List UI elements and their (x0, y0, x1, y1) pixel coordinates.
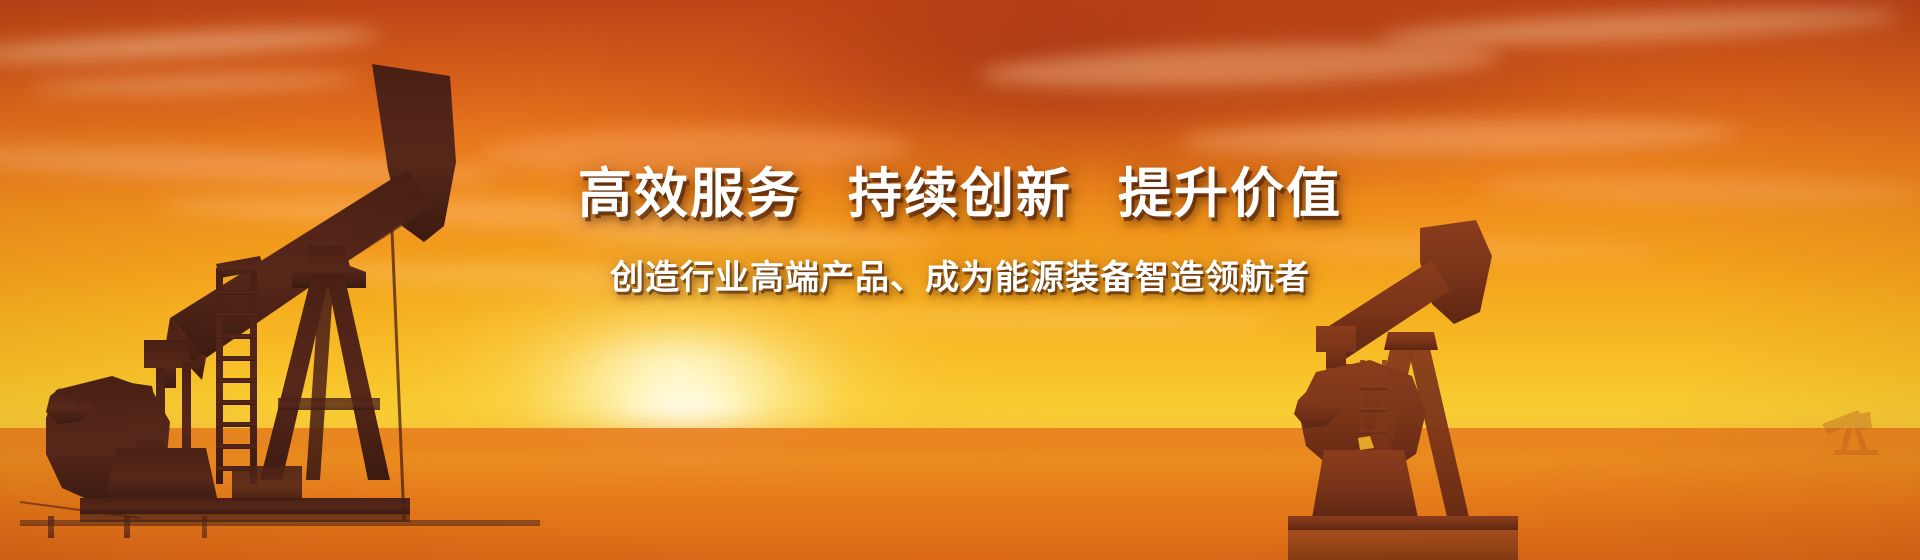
dark-cloud-mass-right (1060, 0, 1760, 160)
pumpjack-left (20, 50, 540, 560)
headline-part-1: 高效服务 (578, 162, 802, 225)
banner-copy: 高效服务持续创新提升价值 创造行业高端产品、成为能源装备智造领航者 (0, 162, 1920, 299)
hero-banner: 高效服务持续创新提升价值 创造行业高端产品、成为能源装备智造领航者 (0, 0, 1920, 560)
distant-rig-right (1812, 400, 1902, 460)
pumpjack-left-body (20, 64, 540, 538)
distant-rig-shape (1822, 410, 1878, 455)
banner-subheadline: 创造行业高端产品、成为能源装备智造领航者 (0, 250, 1920, 299)
headline-part-2: 持续创新 (848, 162, 1072, 225)
banner-headline: 高效服务持续创新提升价值 (0, 162, 1920, 226)
headline-part-3: 提升价值 (1118, 162, 1342, 225)
